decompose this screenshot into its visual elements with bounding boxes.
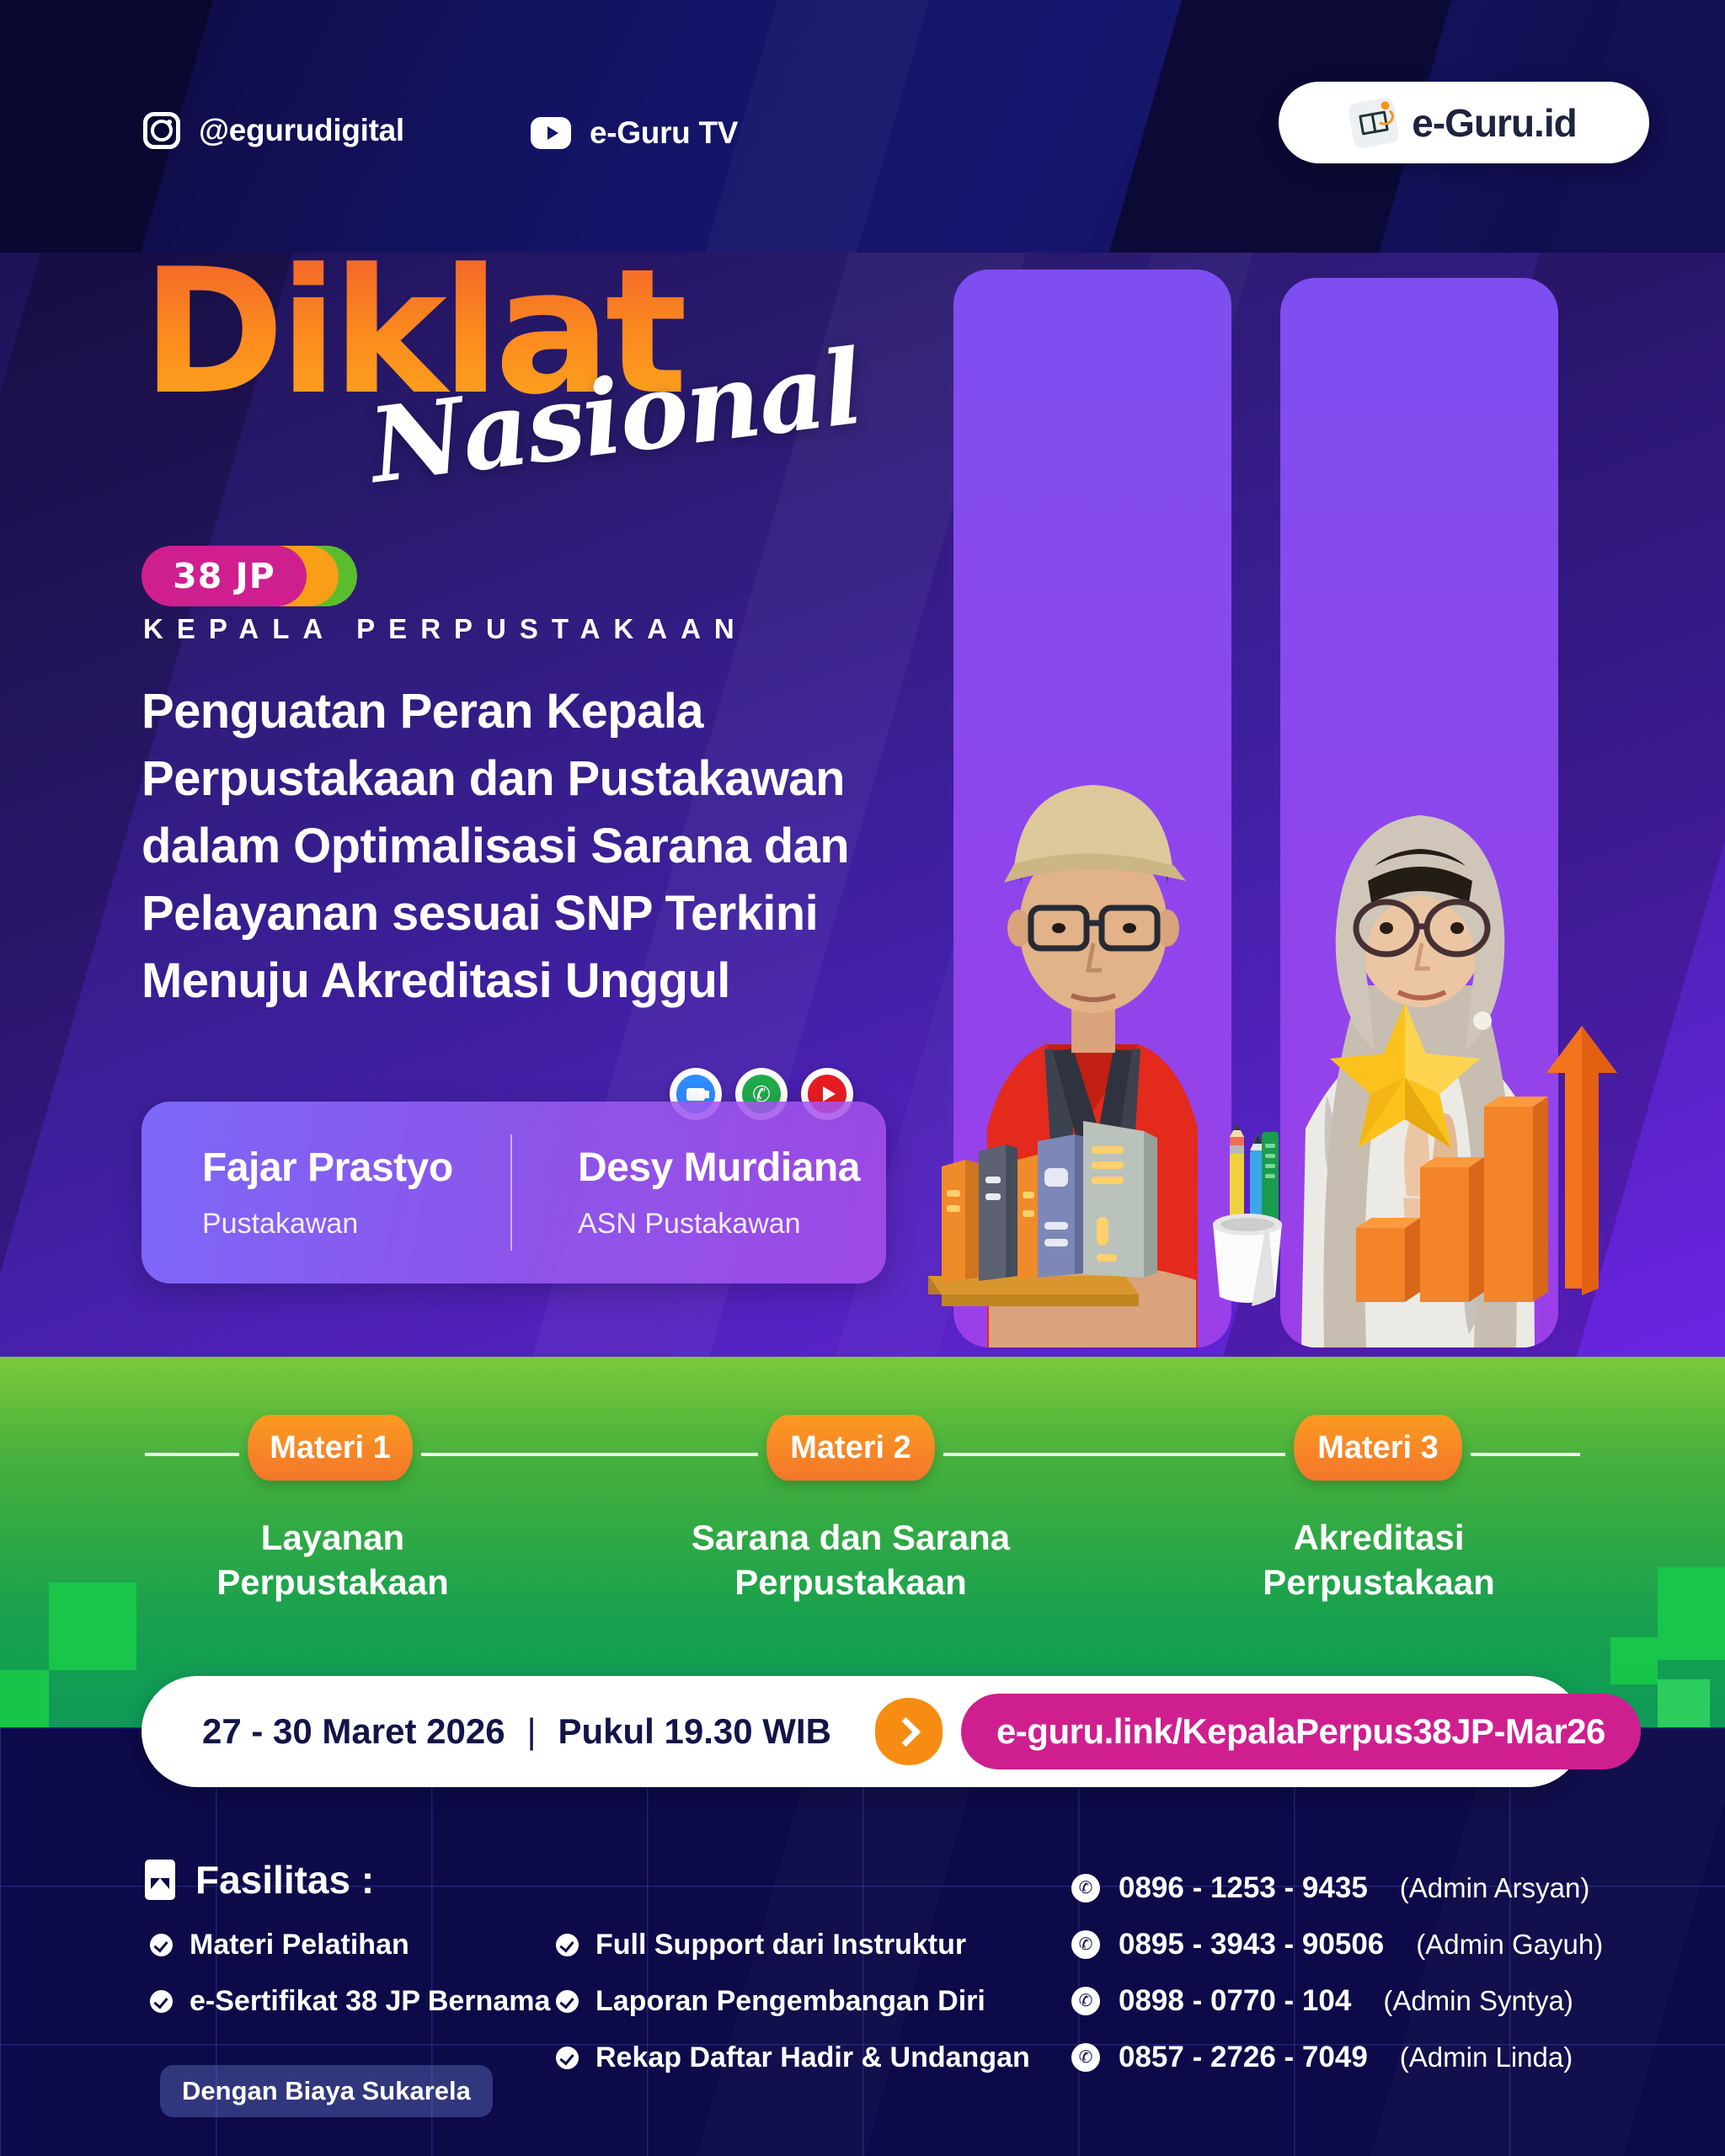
fasilitas-item-label: e-Sertifikat 38 JP Bernama: [190, 1985, 550, 2018]
materi-title-1: Layanan Perpustakaan: [126, 1516, 539, 1605]
decor-square: [1658, 1679, 1710, 1732]
materi-badge-3-label: Materi 3: [1317, 1430, 1439, 1466]
contact-number: 0896 - 1253 - 9435: [1119, 1871, 1368, 1905]
schedule-bar: 27 - 30 Maret 2026 | Pukul 19.30 WIB e-g…: [142, 1676, 1583, 1787]
instagram-icon: [143, 112, 180, 149]
materi-badge-2: Materi 2: [766, 1415, 935, 1481]
materi-title-3-line1: Akreditasi: [1172, 1516, 1585, 1561]
contact-admin: (Admin Arsyan): [1400, 1872, 1590, 1904]
registration-link-label: e-guru.link/KepalaPerpus38JP-Mar26: [996, 1711, 1605, 1752]
fasilitas-item: Rekap Daftar Hadir & Undangan: [556, 2041, 1030, 2074]
materi-title-1-line1: Layanan: [126, 1516, 539, 1561]
contact-number: 0857 - 2726 - 7049: [1119, 2041, 1368, 2074]
whatsapp-icon: [1071, 2043, 1100, 2072]
whatsapp-icon: [1071, 1930, 1100, 1959]
hero-category: KEPALA PERPUSTAKAAN: [143, 613, 748, 645]
materi-connector-line: [1471, 1453, 1580, 1456]
fasilitas-item: Materi Pelatihan: [150, 1929, 409, 1961]
fasilitas-heading-label: Fasilitas :: [195, 1857, 374, 1903]
pencil-cup-3d-decor: [1188, 1122, 1297, 1315]
schedule-date: 27 - 30 Maret 2026: [202, 1711, 505, 1752]
fasilitas-item: Full Support dari Instruktur: [556, 1929, 966, 1961]
materi-connector-line: [145, 1453, 239, 1456]
decor-square: [1610, 1637, 1658, 1684]
social-instagram[interactable]: @egurudigital: [143, 112, 404, 149]
decor-square: [1658, 1567, 1725, 1660]
check-icon: [150, 1990, 173, 2013]
materi-connector-line: [421, 1453, 758, 1456]
brand-label: e-Guru.id: [1412, 100, 1576, 146]
contact-row[interactable]: 0898 - 0770 - 104 (Admin Syntya): [1071, 1984, 1573, 2018]
contact-row[interactable]: 0896 - 1253 - 9435 (Admin Arsyan): [1071, 1871, 1589, 1905]
decor-square: [49, 1582, 136, 1670]
materi-badge-2-label: Materi 2: [790, 1430, 911, 1466]
fasilitas-note-label: Dengan Biaya Sukarela: [182, 2076, 471, 2106]
materi-title-3-line2: Perpustakaan: [1172, 1561, 1585, 1605]
speaker-2-name: Desy Murdiana: [578, 1145, 886, 1191]
speaker-1-name: Fajar Prastyo: [202, 1145, 510, 1191]
contact-row[interactable]: 0895 - 3943 - 90506 (Admin Gayuh): [1071, 1928, 1603, 1961]
contact-admin: (Admin Gayuh): [1416, 1929, 1603, 1961]
speaker-2: Desy Murdiana ASN Pustakawan: [512, 1145, 886, 1241]
hero-headline: Penguatan Peran Kepala Perpustakaan dan …: [142, 678, 950, 1015]
materi-title-3: Akreditasi Perpustakaan: [1172, 1516, 1585, 1605]
whatsapp-icon: [1071, 1874, 1100, 1903]
jp-badge: 38 JP: [142, 546, 307, 606]
whatsapp-icon: [1071, 1987, 1100, 2015]
materi-connector-line: [943, 1453, 1285, 1456]
books-3d-decor: [918, 1065, 1221, 1318]
book-logo-icon: [1348, 96, 1401, 149]
fasilitas-note-badge: Dengan Biaya Sukarela: [160, 2065, 493, 2117]
fasilitas-item-label: Rekap Daftar Hadir & Undangan: [595, 2041, 1030, 2074]
jp-badge-label: 38 JP: [173, 556, 275, 596]
growth-chart-3d-decor: [1348, 1002, 1634, 1322]
youtube-icon: [531, 117, 571, 149]
contact-number: 0898 - 0770 - 104: [1119, 1984, 1351, 2018]
chevron-right-icon[interactable]: [875, 1698, 943, 1765]
contact-number: 0895 - 3943 - 90506: [1119, 1928, 1384, 1961]
brand-badge[interactable]: e-Guru.id: [1279, 82, 1649, 163]
social-youtube[interactable]: e-Guru TV: [531, 115, 738, 151]
check-icon: [556, 1990, 579, 2013]
fasilitas-heading: Fasilitas :: [145, 1857, 374, 1903]
speaker-2-role: ASN Pustakawan: [578, 1208, 886, 1241]
contact-admin: (Admin Syntya): [1383, 1985, 1573, 2017]
check-icon: [556, 2047, 579, 2069]
materi-badge-1: Materi 1: [248, 1415, 413, 1481]
registration-link-button[interactable]: e-guru.link/KepalaPerpus38JP-Mar26: [961, 1694, 1641, 1769]
materi-title-2: Sarana dan Sarana Perpustakaan: [644, 1516, 1057, 1605]
hero-title-group: Diklat Nasional 38 JP: [142, 253, 925, 414]
fasilitas-item: e-Sertifikat 38 JP Bernama: [150, 1985, 550, 2018]
top-bar: @egurudigital e-Guru TV e-Guru.id: [0, 0, 1725, 253]
poster-root: @egurudigital e-Guru TV e-Guru.id: [0, 0, 1725, 2156]
materi-title-2-line1: Sarana dan Sarana: [644, 1516, 1057, 1561]
speaker-card: Fajar Prastyo Pustakawan Desy Murdiana A…: [142, 1102, 886, 1283]
check-icon: [556, 1934, 579, 1956]
fasilitas-item: Laporan Pengembangan Diri: [556, 1985, 985, 2018]
check-icon: [150, 1934, 173, 1956]
materi-badge-1-label: Materi 1: [270, 1430, 391, 1466]
speaker-1-role: Pustakawan: [202, 1208, 510, 1241]
schedule-time: Pukul 19.30 WIB: [558, 1711, 831, 1752]
materi-title-1-line2: Perpustakaan: [126, 1561, 539, 1605]
fasilitas-item-label: Full Support dari Instruktur: [595, 1929, 966, 1961]
materi-title-2-line2: Perpustakaan: [644, 1561, 1057, 1605]
materi-badge-3: Materi 3: [1294, 1415, 1462, 1481]
fasilitas-item-label: Materi Pelatihan: [190, 1929, 409, 1961]
contact-admin: (Admin Linda): [1400, 2041, 1573, 2073]
materi-row: Materi 1 Materi 2 Materi 3: [0, 1415, 1725, 1491]
jp-badge-group: 38 JP: [142, 546, 360, 606]
bookmark-icon: [145, 1860, 175, 1900]
schedule-separator: |: [527, 1711, 537, 1752]
youtube-handle: e-Guru TV: [590, 115, 738, 151]
fasilitas-item-label: Laporan Pengembangan Diri: [595, 1985, 985, 2018]
instagram-handle: @egurudigital: [199, 113, 404, 148]
speaker-1: Fajar Prastyo Pustakawan: [142, 1145, 510, 1241]
contact-row[interactable]: 0857 - 2726 - 7049 (Admin Linda): [1071, 2041, 1573, 2074]
